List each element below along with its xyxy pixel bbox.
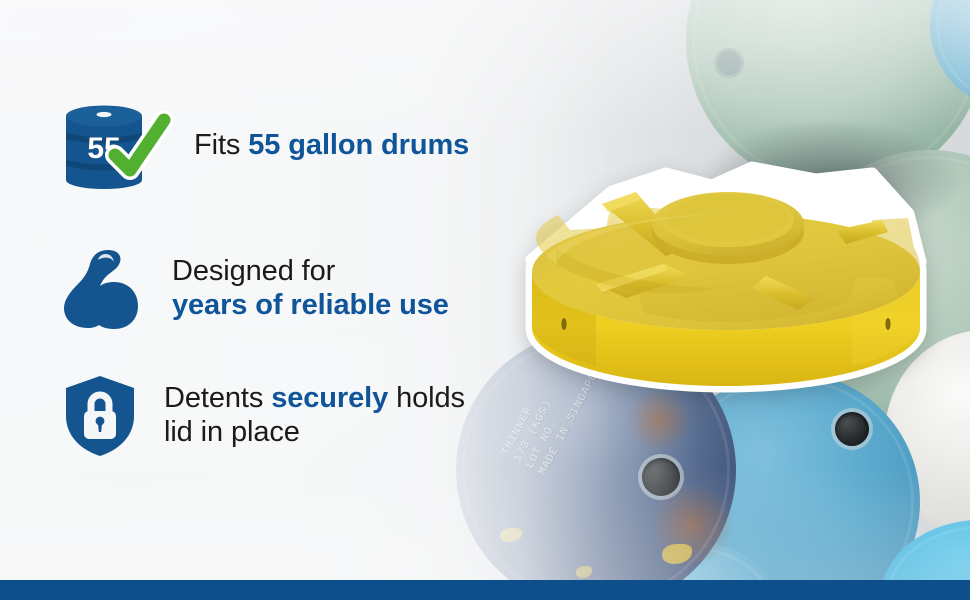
text-segment: Fits [194,129,248,161]
flexed-bicep-icon [62,248,146,330]
feature-text-fits-drums: Fits 55 gallon drums [194,129,469,163]
text-segment: Detents [164,382,271,414]
drum-55-icon-wrap: 55 [58,100,176,192]
feature-line: Fits 55 gallon drums [194,129,469,163]
text-segment: Designed for [172,255,335,287]
flexed-bicep-icon-wrap [62,248,146,330]
shield-lock-icon [64,374,136,458]
text-segment-highlight: years of reliable use [172,289,449,321]
text-segment-highlight: securely [271,382,388,414]
shield-lock-icon-wrap [64,374,136,458]
feature-fits-55-gallon-drums: 55 Fits 55 gallon drums [58,100,469,192]
feature-text-reliable-use: Designed for years of reliable use [172,255,449,322]
product-feature-banner: THINNER 173 (KGS) LOT NO. MADE IN SINGAP… [0,0,970,600]
drum-55-icon: 55 [58,100,176,192]
lid-vent-hole-left [561,318,566,330]
feature-years-of-reliable-use: Designed for years of reliable use [62,248,449,330]
text-segment-highlight: 55 gallon drums [248,129,469,161]
feature-text-detents: Detents securely holds lid in place [164,382,465,449]
feature-line: lid in place [164,416,465,450]
bottom-brand-bar [0,580,970,600]
lid-vent-hole-right [885,318,890,330]
feature-line: years of reliable use [172,289,449,323]
feature-line: Detents securely holds [164,382,465,416]
feature-line: Designed for [172,255,449,289]
feature-detents-hold-lid: Detents securely holds lid in place [64,374,465,458]
yellow-drum-lid-image [516,152,936,408]
text-segment: holds [388,382,465,414]
text-segment: lid in place [164,416,300,448]
lid-hub-face [668,194,788,242]
